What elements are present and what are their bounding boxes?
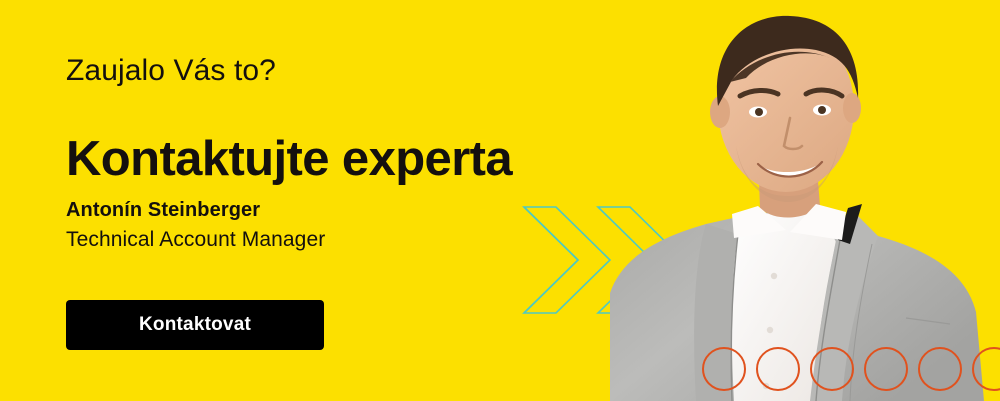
contact-expert-banner: Zaujalo Vás to? Kontaktujte experta Anto…	[0, 0, 1000, 401]
expert-name: Antonín Steinberger	[66, 197, 260, 223]
banner-headline: Kontaktujte experta	[66, 130, 512, 188]
expert-role: Technical Account Manager	[66, 226, 325, 254]
contact-button[interactable]: Kontaktovat	[66, 300, 324, 350]
banner-eyebrow: Zaujalo Vás to?	[66, 53, 276, 89]
banner-copy-block: Zaujalo Vás to? Kontaktujte experta Anto…	[66, 0, 606, 401]
expert-portrait-illustration	[610, 0, 1000, 401]
expert-photo	[610, 0, 1000, 401]
